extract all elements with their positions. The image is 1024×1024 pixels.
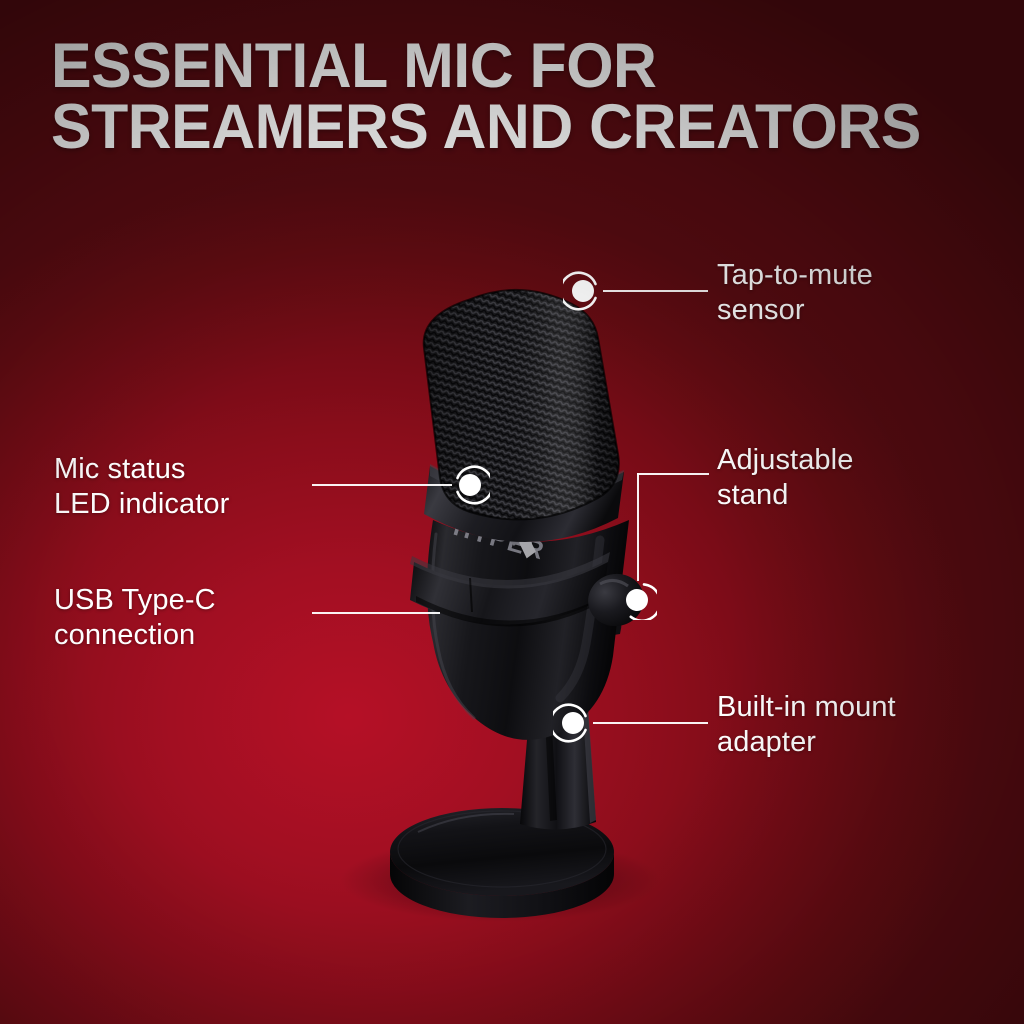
marker-mic-status-led-indicator[interactable] bbox=[450, 465, 490, 505]
leader-line-adjustable-stand-vertical bbox=[637, 473, 639, 581]
leader-line-mic-status-led-indicator bbox=[312, 484, 452, 486]
leader-line-tap-to-mute-sensor bbox=[603, 290, 708, 292]
callout-marker-icon bbox=[450, 465, 490, 505]
callout-marker-icon bbox=[417, 593, 457, 633]
callout-label-tap-to-mute-sensor: Tap-to-mute sensor bbox=[717, 258, 873, 328]
callout-label-mic-status-led-indicator: Mic status LED indicator bbox=[54, 452, 229, 522]
page-title: ESSENTIAL MIC FOR STREAMERS AND CREATORS bbox=[51, 36, 977, 158]
callout-label-adjustable-stand: Adjustable stand bbox=[717, 443, 853, 513]
callout-label-usb-type-c-connection: USB Type-C connection bbox=[54, 583, 216, 653]
callout-marker-icon bbox=[553, 703, 593, 743]
marker-adjustable-stand[interactable] bbox=[617, 580, 657, 620]
marker-built-in-mount-adapter[interactable] bbox=[553, 703, 593, 743]
callout-label-built-in-mount-adapter: Built-in mount adapter bbox=[717, 690, 896, 760]
leader-line-built-in-mount-adapter bbox=[593, 722, 708, 724]
headline-line-2: STREAMERS AND CREATORS bbox=[51, 97, 977, 158]
headline-line-1: ESSENTIAL MIC FOR bbox=[51, 36, 977, 97]
leader-line-adjustable-stand-horizontal bbox=[637, 473, 709, 475]
callout-marker-icon bbox=[617, 580, 657, 620]
product-feature-poster: HYPER bbox=[0, 0, 1024, 1024]
marker-tap-to-mute-sensor[interactable] bbox=[563, 271, 603, 311]
callout-marker-icon bbox=[563, 271, 603, 311]
